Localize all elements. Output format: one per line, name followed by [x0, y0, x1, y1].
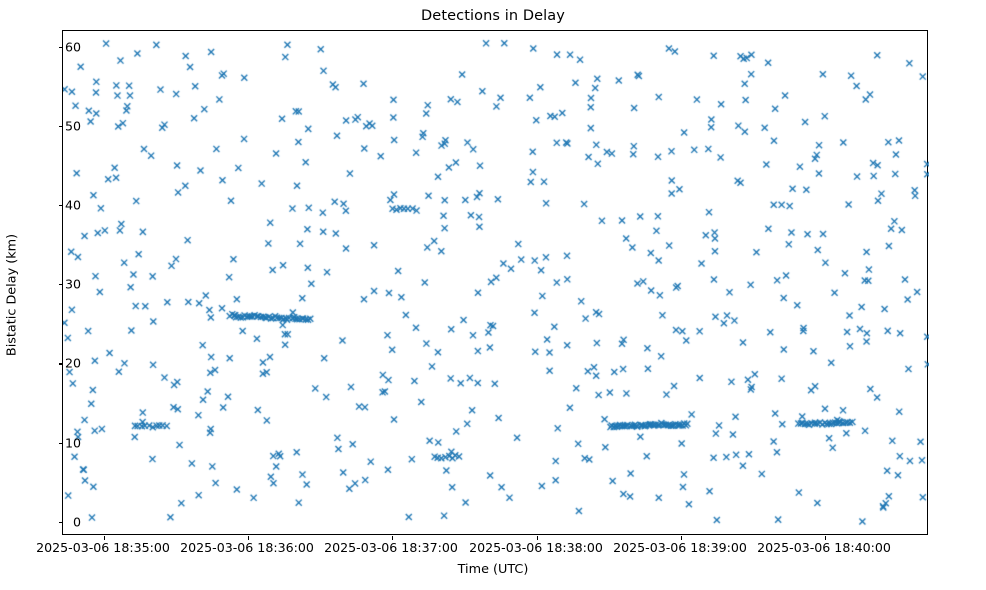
x-axis-tick-label: 2025-03-06 18:36:00 — [180, 540, 314, 555]
y-axis-tick-label: 50 — [51, 118, 81, 133]
y-axis-tick-label: 20 — [51, 356, 81, 371]
y-axis-label: Bistatic Delay (km) — [5, 234, 20, 356]
y-axis-label-container: Bistatic Delay (km) — [18, 0, 19, 590]
y-axis-tick-label: 30 — [51, 277, 81, 292]
x-axis-tick-label: 2025-03-06 18:39:00 — [613, 540, 747, 555]
plot-axes: 0102030405060 — [62, 30, 928, 535]
x-axis-tick-label: 2025-03-06 18:35:00 — [36, 540, 170, 555]
x-axis-tick-label: 2025-03-06 18:40:00 — [757, 540, 891, 555]
scatter-points-canvas — [63, 31, 929, 536]
page-title: Detections in Delay — [0, 8, 986, 24]
x-axis-tick-label: 2025-03-06 18:38:00 — [469, 540, 603, 555]
y-axis-tick-label: 40 — [51, 198, 81, 213]
x-axis-label: Time (UTC) — [0, 562, 986, 577]
x-axis-tick-label: 2025-03-06 18:37:00 — [324, 540, 458, 555]
y-axis-tick-label: 60 — [51, 39, 81, 54]
y-axis-tick-label: 10 — [51, 435, 81, 450]
scatter-plot-figure: Detections in Delay Bistatic Delay (km) … — [0, 0, 986, 590]
y-axis-tick-label: 0 — [51, 514, 81, 529]
